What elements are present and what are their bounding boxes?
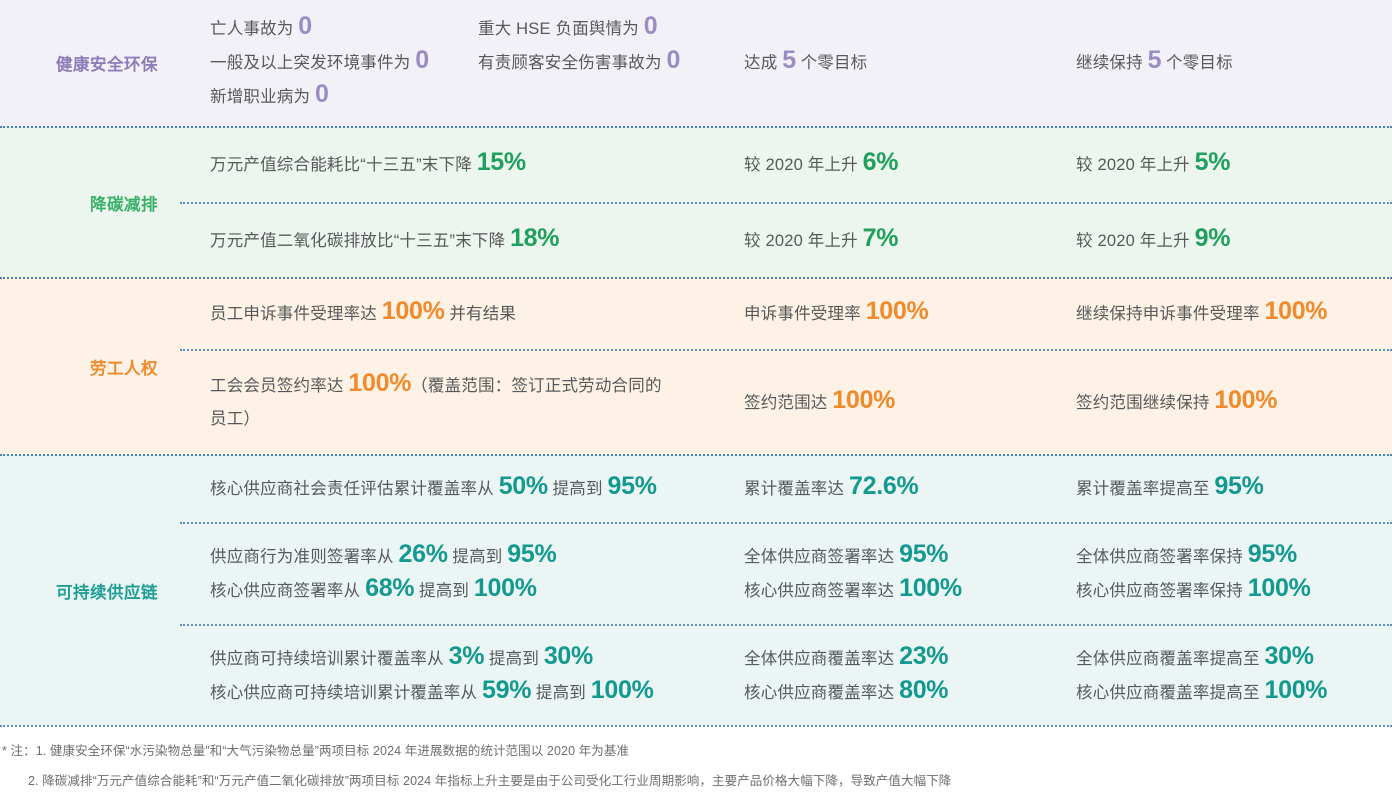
cell-target: 供应商可持续培训累计覆盖率从 3% 提高到 30%核心供应商可持续培训累计覆盖率… xyxy=(180,644,722,708)
metric-value: 100% xyxy=(832,386,895,414)
category-label: 健康安全环保 xyxy=(56,51,158,75)
cell-target: 亡人事故为 0一般及以上突发环境事件为 0新增职业病为 0重大 HSE 负面舆情… xyxy=(180,14,722,112)
cell-target: 供应商行为准则签署率从 26% 提高到 95%核心供应商签署率从 68% 提高到… xyxy=(180,542,722,606)
metric-text: 并有结果 xyxy=(445,305,517,323)
table-row: 供应商行为准则签署率从 26% 提高到 95%核心供应商签署率从 68% 提高到… xyxy=(180,522,1392,624)
metric-text: 全体供应商签署率保持 xyxy=(1076,548,1248,566)
metric-value: 50% xyxy=(499,472,548,500)
metric-text: 较 2020 年上升 xyxy=(744,232,863,250)
metric-value: 59% xyxy=(482,676,531,704)
metric-line: 重大 HSE 负面舆情为 0 xyxy=(478,14,708,44)
cell-target: 工会会员签约率达 100%（覆盖范围：签订正式劳动合同的员工） xyxy=(180,371,722,434)
metric-line: 较 2020 年上升 7% xyxy=(744,226,1044,256)
footnote-1: * 注：1. 健康安全环保“水污染物总量”和“大气污染物总量”两项目标 2024… xyxy=(0,741,1392,761)
metric-text: 工会会员签约率达 xyxy=(210,377,348,395)
metric-text: 提高到 xyxy=(531,684,591,702)
section-inner: 降碳减排万元产值综合能耗比“十三五”末下降 15%较 2020 年上升 6%较 … xyxy=(0,128,1392,278)
metric-line: 核心供应商覆盖率提高至 100% xyxy=(1076,678,1378,708)
metric-text: 供应商可持续培训累计覆盖率从 xyxy=(210,650,449,668)
metric-value: 100% xyxy=(899,574,962,602)
metric-line: 达成 5 个零目标 xyxy=(744,48,1044,78)
metric-value: 0 xyxy=(666,46,680,74)
metric-text: 提高到 xyxy=(548,480,608,498)
rows-wrap: 员工申诉事件受理率达 100% 并有结果申诉事件受理率 100%继续保持申诉事件… xyxy=(180,279,1392,454)
section-inner: 劳工人权员工申诉事件受理率达 100% 并有结果申诉事件受理率 100%继续保持… xyxy=(0,279,1392,454)
metric-line: 一般及以上突发环境事件为 0 xyxy=(210,48,478,78)
category-section-supply: 可持续供应链核心供应商社会责任评估累计覆盖率从 50% 提高到 95%累计覆盖率… xyxy=(0,454,1392,725)
table-row: 工会会员签约率达 100%（覆盖范围：签订正式劳动合同的员工）签约范围达 100… xyxy=(180,349,1392,454)
esg-goals-table: 健康安全环保亡人事故为 0一般及以上突发环境事件为 0新增职业病为 0重大 HS… xyxy=(0,0,1392,725)
category-section-hse: 健康安全环保亡人事故为 0一般及以上突发环境事件为 0新增职业病为 0重大 HS… xyxy=(0,0,1392,126)
metric-line: 累计覆盖率达 72.6% xyxy=(744,474,1044,504)
metric-value: 100% xyxy=(1248,574,1311,602)
metric-value: 80% xyxy=(899,676,948,704)
metric-value: 9% xyxy=(1195,224,1231,252)
rows-wrap: 万元产值综合能耗比“十三五”末下降 15%较 2020 年上升 6%较 2020… xyxy=(180,128,1392,278)
metric-line: 核心供应商社会责任评估累计覆盖率从 50% 提高到 95% xyxy=(210,474,708,504)
metric-line: 核心供应商签署率达 100% xyxy=(744,576,1044,606)
cell-target: 核心供应商社会责任评估累计覆盖率从 50% 提高到 95% xyxy=(180,474,722,504)
cell-plan-next: 全体供应商签署率保持 95%核心供应商签署率保持 100% xyxy=(1058,542,1392,606)
metric-text: 核心供应商覆盖率达 xyxy=(744,684,899,702)
table-row: 核心供应商社会责任评估累计覆盖率从 50% 提高到 95%累计覆盖率达 72.6… xyxy=(180,456,1392,522)
metric-value: 68% xyxy=(365,574,414,602)
metric-value: 30% xyxy=(1264,642,1313,670)
metric-line: 亡人事故为 0 xyxy=(210,14,478,44)
metric-value: 100% xyxy=(1264,297,1327,325)
metric-text: 申诉事件受理率 xyxy=(744,305,866,323)
metric-text: 一般及以上突发环境事件为 xyxy=(210,54,415,72)
metric-text: 继续保持申诉事件受理率 xyxy=(1076,305,1264,323)
cell-plan-next: 签约范围继续保持 100% xyxy=(1058,388,1392,418)
metric-value: 6% xyxy=(863,148,899,176)
cell-progress-2024: 申诉事件受理率 100% xyxy=(722,299,1058,329)
metric-value: 23% xyxy=(899,642,948,670)
metric-value: 0 xyxy=(415,46,429,74)
metric-value: 95% xyxy=(1214,472,1263,500)
table-row: 万元产值综合能耗比“十三五”末下降 15%较 2020 年上升 6%较 2020… xyxy=(180,128,1392,202)
metric-line: 有责顾客安全伤害事故为 0 xyxy=(478,48,708,78)
metric-line: 供应商可持续培训累计覆盖率从 3% 提高到 30% xyxy=(210,644,708,674)
metric-line: 全体供应商签署率保持 95% xyxy=(1076,542,1378,572)
metric-text: 供应商行为准则签署率从 xyxy=(210,548,398,566)
metric-text: 较 2020 年上升 xyxy=(744,156,863,174)
metric-line: 全体供应商覆盖率达 23% xyxy=(744,644,1044,674)
table-row: 员工申诉事件受理率达 100% 并有结果申诉事件受理率 100%继续保持申诉事件… xyxy=(180,279,1392,349)
metric-text: 较 2020 年上升 xyxy=(1076,232,1195,250)
metric-value: 100% xyxy=(1264,676,1327,704)
metric-text: 亡人事故为 xyxy=(210,20,298,38)
section-inner: 健康安全环保亡人事故为 0一般及以上突发环境事件为 0新增职业病为 0重大 HS… xyxy=(0,0,1392,126)
metric-text: 员工申诉事件受理率达 xyxy=(210,305,382,323)
metric-text: 较 2020 年上升 xyxy=(1076,156,1195,174)
metric-value: 100% xyxy=(348,369,411,397)
metric-line: 核心供应商覆盖率达 80% xyxy=(744,678,1044,708)
metric-text: 有责顾客安全伤害事故为 xyxy=(478,54,666,72)
cell-progress-2024: 全体供应商签署率达 95%核心供应商签署率达 100% xyxy=(722,542,1058,606)
cell-plan-next: 较 2020 年上升 9% xyxy=(1058,226,1392,256)
metric-line: 员工） xyxy=(210,405,708,434)
metric-value: 100% xyxy=(1214,386,1277,414)
metric-text: 核心供应商社会责任评估累计覆盖率从 xyxy=(210,480,499,498)
category-cell: 可持续供应链 xyxy=(0,456,180,725)
metric-value: 0 xyxy=(644,12,658,40)
metric-value: 0 xyxy=(315,80,329,108)
metric-value: 100% xyxy=(591,676,654,704)
metric-value: 18% xyxy=(510,224,559,252)
cell-target: 万元产值综合能耗比“十三五”末下降 15% xyxy=(180,150,722,180)
metric-text: 万元产值二氧化碳排放比“十三五”末下降 xyxy=(210,232,510,250)
metric-line: 累计覆盖率提高至 95% xyxy=(1076,474,1378,504)
metric-text: 核心供应商签署率保持 xyxy=(1076,582,1248,600)
metric-line: 较 2020 年上升 5% xyxy=(1076,150,1378,180)
category-label: 可持续供应链 xyxy=(56,579,158,603)
category-section-labor: 劳工人权员工申诉事件受理率达 100% 并有结果申诉事件受理率 100%继续保持… xyxy=(0,277,1392,454)
metric-value: 30% xyxy=(544,642,593,670)
metric-text: 核心供应商可持续培训累计覆盖率从 xyxy=(210,684,482,702)
metric-value: 0 xyxy=(298,12,312,40)
metric-value: 15% xyxy=(477,148,526,176)
section-inner: 可持续供应链核心供应商社会责任评估累计覆盖率从 50% 提高到 95%累计覆盖率… xyxy=(0,456,1392,725)
metric-text: 达成 xyxy=(744,54,782,72)
cell-progress-2024: 签约范围达 100% xyxy=(722,388,1058,418)
rows-wrap: 亡人事故为 0一般及以上突发环境事件为 0新增职业病为 0重大 HSE 负面舆情… xyxy=(180,0,1392,126)
metric-line: 核心供应商签署率从 68% 提高到 100% xyxy=(210,576,708,606)
metric-line: 供应商行为准则签署率从 26% 提高到 95% xyxy=(210,542,708,572)
metric-text: 提高到 xyxy=(484,650,544,668)
metric-line: 全体供应商签署率达 95% xyxy=(744,542,1044,572)
metric-line: 员工申诉事件受理率达 100% 并有结果 xyxy=(210,299,708,329)
cell-progress-2024: 较 2020 年上升 7% xyxy=(722,226,1058,256)
category-cell: 劳工人权 xyxy=(0,279,180,454)
metric-text: 核心供应商覆盖率提高至 xyxy=(1076,684,1264,702)
cell-progress-2024: 累计覆盖率达 72.6% xyxy=(722,474,1058,504)
metric-line: 新增职业病为 0 xyxy=(210,82,478,112)
metric-line: 签约范围达 100% xyxy=(744,388,1044,418)
metric-value: 72.6% xyxy=(849,472,918,500)
cell-progress-2024: 较 2020 年上升 6% xyxy=(722,150,1058,180)
table-row: 万元产值二氧化碳排放比“十三五”末下降 18%较 2020 年上升 7%较 20… xyxy=(180,202,1392,278)
metric-line: 万元产值综合能耗比“十三五”末下降 15% xyxy=(210,150,708,180)
metric-text: 继续保持 xyxy=(1076,54,1148,72)
metric-value: 3% xyxy=(449,642,485,670)
metric-text: 签约范围继续保持 xyxy=(1076,394,1214,412)
footnotes-block: * 注：1. 健康安全环保“水污染物总量”和“大气污染物总量”两项目标 2024… xyxy=(0,725,1392,791)
footnote-2: 2. 降碳减排“万元产值综合能耗”和“万元产值二氧化碳排放”两项目标 2024 … xyxy=(0,771,1392,791)
metric-text: 累计覆盖率达 xyxy=(744,480,849,498)
metric-line: 继续保持 5 个零目标 xyxy=(1076,48,1378,78)
cell-target: 员工申诉事件受理率达 100% 并有结果 xyxy=(180,299,722,329)
cell-plan-next: 全体供应商覆盖率提高至 30%核心供应商覆盖率提高至 100% xyxy=(1058,644,1392,708)
metric-text: 全体供应商覆盖率提高至 xyxy=(1076,650,1264,668)
metric-text: 提高到 xyxy=(414,582,474,600)
metric-value: 100% xyxy=(474,574,537,602)
metric-line: 万元产值二氧化碳排放比“十三五”末下降 18% xyxy=(210,226,708,256)
metric-line: 签约范围继续保持 100% xyxy=(1076,388,1378,418)
metric-line: 核心供应商可持续培训累计覆盖率从 59% 提高到 100% xyxy=(210,678,708,708)
cell-plan-next: 继续保持申诉事件受理率 100% xyxy=(1058,299,1392,329)
metric-line: 继续保持申诉事件受理率 100% xyxy=(1076,299,1378,329)
metric-line: 工会会员签约率达 100%（覆盖范围：签订正式劳动合同的 xyxy=(210,371,708,401)
cell-progress-2024: 达成 5 个零目标 xyxy=(722,48,1058,78)
metric-line: 申诉事件受理率 100% xyxy=(744,299,1044,329)
category-label: 降碳减排 xyxy=(90,191,158,215)
metric-text: 提高到 xyxy=(448,548,508,566)
category-cell: 健康安全环保 xyxy=(0,0,180,126)
metric-text: 核心供应商签署率从 xyxy=(210,582,365,600)
metric-line: 较 2020 年上升 6% xyxy=(744,150,1044,180)
cell-progress-2024: 全体供应商覆盖率达 23%核心供应商覆盖率达 80% xyxy=(722,644,1058,708)
metric-text: 全体供应商覆盖率达 xyxy=(744,650,899,668)
category-label: 劳工人权 xyxy=(90,355,158,379)
cell-plan-next: 累计覆盖率提高至 95% xyxy=(1058,474,1392,504)
metric-text: （覆盖范围：签订正式劳动合同的 xyxy=(411,377,662,395)
metric-value: 95% xyxy=(899,540,948,568)
metric-value: 95% xyxy=(1248,540,1297,568)
cell-target-group-b: 重大 HSE 负面舆情为 0有责顾客安全伤害事故为 0 xyxy=(478,14,708,112)
metric-text: 核心供应商签署率达 xyxy=(744,582,899,600)
metric-value: 5 xyxy=(1148,46,1162,74)
category-cell: 降碳减排 xyxy=(0,128,180,278)
table-row: 供应商可持续培训累计覆盖率从 3% 提高到 30%核心供应商可持续培训累计覆盖率… xyxy=(180,624,1392,726)
cell-target-group-a: 亡人事故为 0一般及以上突发环境事件为 0新增职业病为 0 xyxy=(210,14,478,112)
metric-value: 5 xyxy=(782,46,796,74)
category-section-carbon: 降碳减排万元产值综合能耗比“十三五”末下降 15%较 2020 年上升 6%较 … xyxy=(0,126,1392,278)
metric-value: 7% xyxy=(863,224,899,252)
metric-text: 新增职业病为 xyxy=(210,88,315,106)
metric-value: 100% xyxy=(382,297,445,325)
metric-text: 万元产值综合能耗比“十三五”末下降 xyxy=(210,156,477,174)
metric-text: 签约范围达 xyxy=(744,394,832,412)
metric-text: 重大 HSE 负面舆情为 xyxy=(478,20,644,38)
metric-value: 5% xyxy=(1195,148,1231,176)
metric-text: 累计覆盖率提高至 xyxy=(1076,480,1214,498)
rows-wrap: 核心供应商社会责任评估累计覆盖率从 50% 提高到 95%累计覆盖率达 72.6… xyxy=(180,456,1392,725)
metric-text: 个零目标 xyxy=(796,54,868,72)
metric-value: 95% xyxy=(608,472,657,500)
metric-line: 全体供应商覆盖率提高至 30% xyxy=(1076,644,1378,674)
cell-plan-next: 较 2020 年上升 5% xyxy=(1058,150,1392,180)
metric-value: 100% xyxy=(866,297,929,325)
metric-text: 个零目标 xyxy=(1161,54,1233,72)
metric-value: 95% xyxy=(507,540,556,568)
table-row: 亡人事故为 0一般及以上突发环境事件为 0新增职业病为 0重大 HSE 负面舆情… xyxy=(180,0,1392,126)
cell-plan-next: 继续保持 5 个零目标 xyxy=(1058,48,1392,78)
cell-target: 万元产值二氧化碳排放比“十三五”末下降 18% xyxy=(180,226,722,256)
metric-line: 核心供应商签署率保持 100% xyxy=(1076,576,1378,606)
metric-value: 26% xyxy=(398,540,447,568)
metric-text: 全体供应商签署率达 xyxy=(744,548,899,566)
metric-text: 员工） xyxy=(210,410,260,428)
metric-line: 较 2020 年上升 9% xyxy=(1076,226,1378,256)
